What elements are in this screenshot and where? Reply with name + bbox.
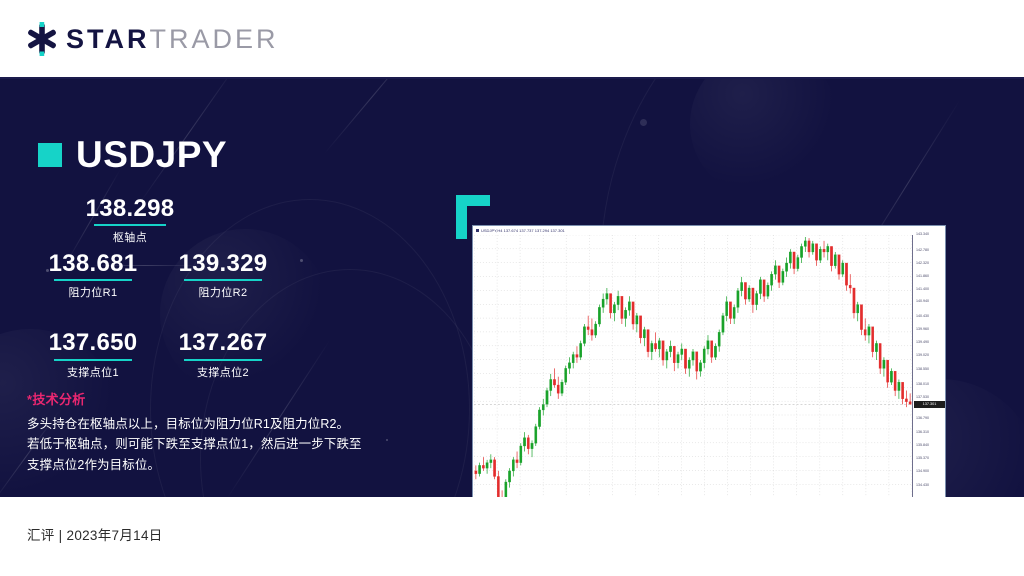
technical-analysis-block: *技术分析 多头持仓在枢轴点以上，目标位为阻力位R1及阻力位R2。 若低于枢轴点… bbox=[27, 389, 427, 475]
price-tick-label: 141.860 bbox=[916, 275, 929, 279]
chart-title-bar: USDJPY,H4 137.674 137.737 137.294 137.30… bbox=[473, 226, 945, 235]
r1-stat: 138.681 阻力位R1 bbox=[28, 251, 158, 300]
price-tick-label: 143.340 bbox=[916, 233, 929, 237]
s1-label: 支撑点位1 bbox=[28, 364, 158, 380]
brand-wordmark: STARTRADER bbox=[66, 26, 279, 53]
stat-underline bbox=[184, 359, 262, 361]
price-tick-label: 142.320 bbox=[916, 262, 929, 266]
title-marker-square bbox=[38, 143, 62, 167]
price-tick-label: 134.430 bbox=[916, 484, 929, 488]
r1-label: 阻力位R1 bbox=[28, 284, 158, 300]
s1-stat: 137.650 支撑点位1 bbox=[28, 330, 158, 379]
price-tick-label: 141.400 bbox=[916, 288, 929, 292]
pivot-value: 138.298 bbox=[50, 196, 210, 222]
price-tick-label: 142.780 bbox=[916, 249, 929, 253]
resistance-row: 138.681 阻力位R1 139.329 阻力位R2 bbox=[28, 251, 288, 314]
main-stage: USDJPY 138.298 枢轴点 138.681 阻力位R1 139.329… bbox=[0, 79, 1024, 497]
price-tick-label: 135.370 bbox=[916, 457, 929, 461]
price-tick-label: 139.490 bbox=[916, 341, 929, 345]
analysis-line-3: 支撑点位2作为目标位。 bbox=[27, 455, 427, 475]
instrument-symbol: USDJPY bbox=[76, 136, 227, 173]
price-tick-label: 140.940 bbox=[916, 300, 929, 304]
page-footer: 汇评 | 2023年7月14日 bbox=[0, 497, 1024, 576]
support-row: 137.650 支撑点位1 137.267 支撑点位2 bbox=[28, 330, 288, 393]
brand-logo[interactable]: STARTRADER bbox=[25, 22, 279, 56]
page-header: STARTRADER bbox=[0, 0, 1024, 78]
page-title: USDJPY bbox=[38, 136, 227, 173]
price-tick-label: 134.900 bbox=[916, 470, 929, 474]
bg-orb bbox=[690, 79, 840, 199]
r2-value: 139.329 bbox=[158, 251, 288, 277]
price-tick-label: 136.310 bbox=[916, 431, 929, 435]
asterisk-star-icon bbox=[25, 22, 59, 56]
analysis-heading: *技术分析 bbox=[27, 389, 427, 408]
chart-window[interactable]: USDJPY,H4 137.674 137.737 137.294 137.30… bbox=[472, 225, 946, 497]
r1-value: 138.681 bbox=[28, 251, 158, 277]
r2-stat: 139.329 阻力位R2 bbox=[158, 251, 288, 300]
price-tick-label: 136.790 bbox=[916, 417, 929, 421]
footer-caption: 汇评 | 2023年7月14日 bbox=[27, 524, 163, 544]
s1-value: 137.650 bbox=[28, 330, 158, 356]
pivot-label: 枢轴点 bbox=[50, 229, 210, 245]
r2-label: 阻力位R2 bbox=[158, 284, 288, 300]
stat-underline bbox=[54, 359, 132, 361]
pivot-stat: 138.298 枢轴点 bbox=[50, 196, 210, 245]
bg-dot bbox=[640, 119, 647, 126]
analysis-line-2: 若低于枢轴点，则可能下跌至支撑点位1，然后进一步下跌至 bbox=[27, 434, 427, 454]
current-price-tag: 137.301 bbox=[914, 401, 945, 408]
brand-name-bold: STAR bbox=[66, 24, 150, 54]
price-tick-label: 139.960 bbox=[916, 328, 929, 332]
price-tick-label: 138.010 bbox=[916, 383, 929, 387]
chart-title-text: USDJPY,H4 137.674 137.737 137.294 137.30… bbox=[481, 228, 565, 233]
price-tick-label: 138.550 bbox=[916, 368, 929, 372]
stat-underline bbox=[54, 279, 132, 281]
s2-value: 137.267 bbox=[158, 330, 288, 356]
chart-plot-area[interactable] bbox=[474, 235, 912, 497]
price-tick-label: 139.020 bbox=[916, 354, 929, 358]
instrument-panel: USDJPY 138.298 枢轴点 138.681 阻力位R1 139.329… bbox=[0, 79, 450, 497]
price-axis: 143.340142.780142.320141.860141.400140.9… bbox=[912, 235, 945, 497]
levels-grid: 138.681 阻力位R1 139.329 阻力位R2 137.650 支撑点位… bbox=[28, 251, 288, 394]
s2-label: 支撑点位2 bbox=[158, 364, 288, 380]
price-tick-label: 140.430 bbox=[916, 315, 929, 319]
stat-underline bbox=[94, 224, 166, 226]
brand-name-light: TRADER bbox=[150, 24, 279, 54]
stat-underline bbox=[184, 279, 262, 281]
chart-symbol-icon bbox=[476, 229, 479, 232]
price-tick-label: 135.840 bbox=[916, 444, 929, 448]
analysis-body: 多头持仓在枢轴点以上，目标位为阻力位R1及阻力位R2。 若低于枢轴点，则可能下跌… bbox=[27, 414, 427, 475]
s2-stat: 137.267 支撑点位2 bbox=[158, 330, 288, 379]
price-tick-label: 137.530 bbox=[916, 396, 929, 400]
analysis-line-1: 多头持仓在枢轴点以上，目标位为阻力位R1及阻力位R2。 bbox=[27, 414, 427, 434]
candlestick-series bbox=[474, 235, 912, 497]
